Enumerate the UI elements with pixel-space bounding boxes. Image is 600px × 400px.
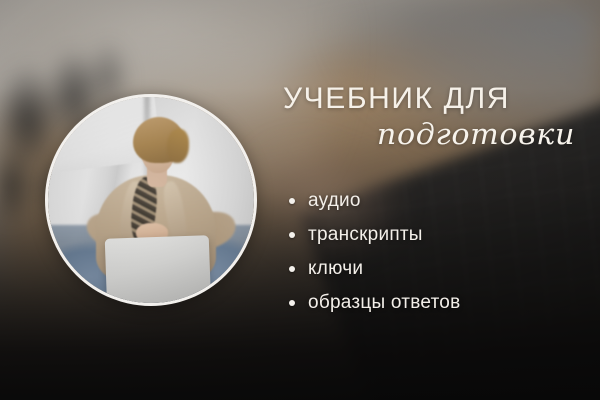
list-item-label: ключи	[308, 258, 363, 280]
list-item-label: образцы ответов	[308, 292, 460, 314]
feature-list: аудио транскрипты ключи образцы ответов	[289, 186, 460, 322]
script-subtitle: подготовки	[271, 118, 575, 151]
bullet-dot-icon	[289, 198, 295, 204]
list-item: аудио	[289, 186, 460, 215]
list-item-label: транскрипты	[308, 224, 423, 246]
list-item: ключи	[289, 254, 460, 283]
bullet-dot-icon	[289, 232, 295, 238]
headline: УЧЕБНИК ДЛЯ	[283, 84, 575, 114]
list-item-label: аудио	[308, 190, 361, 212]
bullet-dot-icon	[289, 266, 295, 272]
text-content: УЧЕБНИК ДЛЯ подготовки аудио транскрипты…	[283, 0, 583, 400]
promo-banner: УЧЕБНИК ДЛЯ подготовки аудио транскрипты…	[0, 0, 600, 400]
portrait-tone-overlay	[48, 97, 254, 303]
list-item: образцы ответов	[289, 288, 460, 317]
portrait-circle	[45, 94, 257, 306]
bullet-dot-icon	[289, 300, 295, 306]
list-item: транскрипты	[289, 220, 460, 249]
portrait-photo	[48, 97, 254, 303]
